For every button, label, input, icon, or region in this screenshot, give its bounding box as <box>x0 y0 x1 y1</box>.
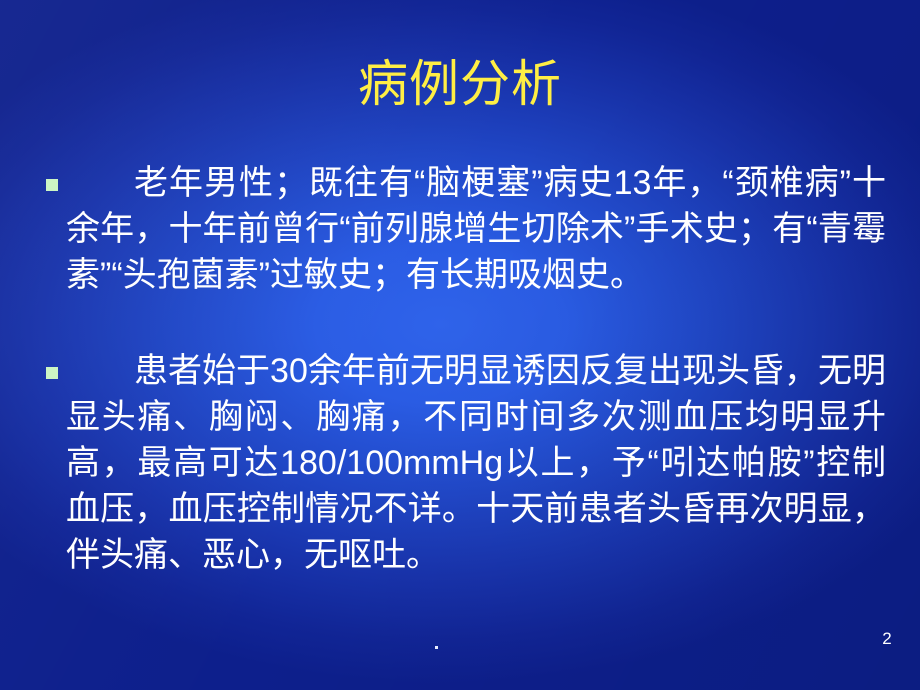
presentation-slide: 病例分析 老年男性；既往有“脑梗塞”病史13年，“颈椎病”十余年，十年前曾行“前… <box>0 0 920 690</box>
square-bullet-icon <box>46 367 58 379</box>
bullet-item-present-illness: 患者始于30余年前无明显诱因反复出现头昏，无明显头痛、胸闷、胸痛，不同时间多次测… <box>40 348 886 578</box>
page-title: 病例分析 <box>0 56 920 112</box>
square-bullet-icon <box>46 179 58 191</box>
page-number: 2 <box>872 628 902 650</box>
bullet-item-history: 老年男性；既往有“脑梗塞”病史13年，“颈椎病”十余年，十年前曾行“前列腺增生切… <box>40 160 886 298</box>
bullet-item-text: 患者始于30余年前无明显诱因反复出现头昏，无明显头痛、胸闷、胸痛，不同时间多次测… <box>66 348 886 578</box>
bullet-item-text: 老年男性；既往有“脑梗塞”病史13年，“颈椎病”十余年，十年前曾行“前列腺增生切… <box>66 160 886 298</box>
footer-placeholder-dot <box>435 646 438 649</box>
slide-body-content: 老年男性；既往有“脑梗塞”病史13年，“颈椎病”十余年，十年前曾行“前列腺增生切… <box>40 160 886 578</box>
